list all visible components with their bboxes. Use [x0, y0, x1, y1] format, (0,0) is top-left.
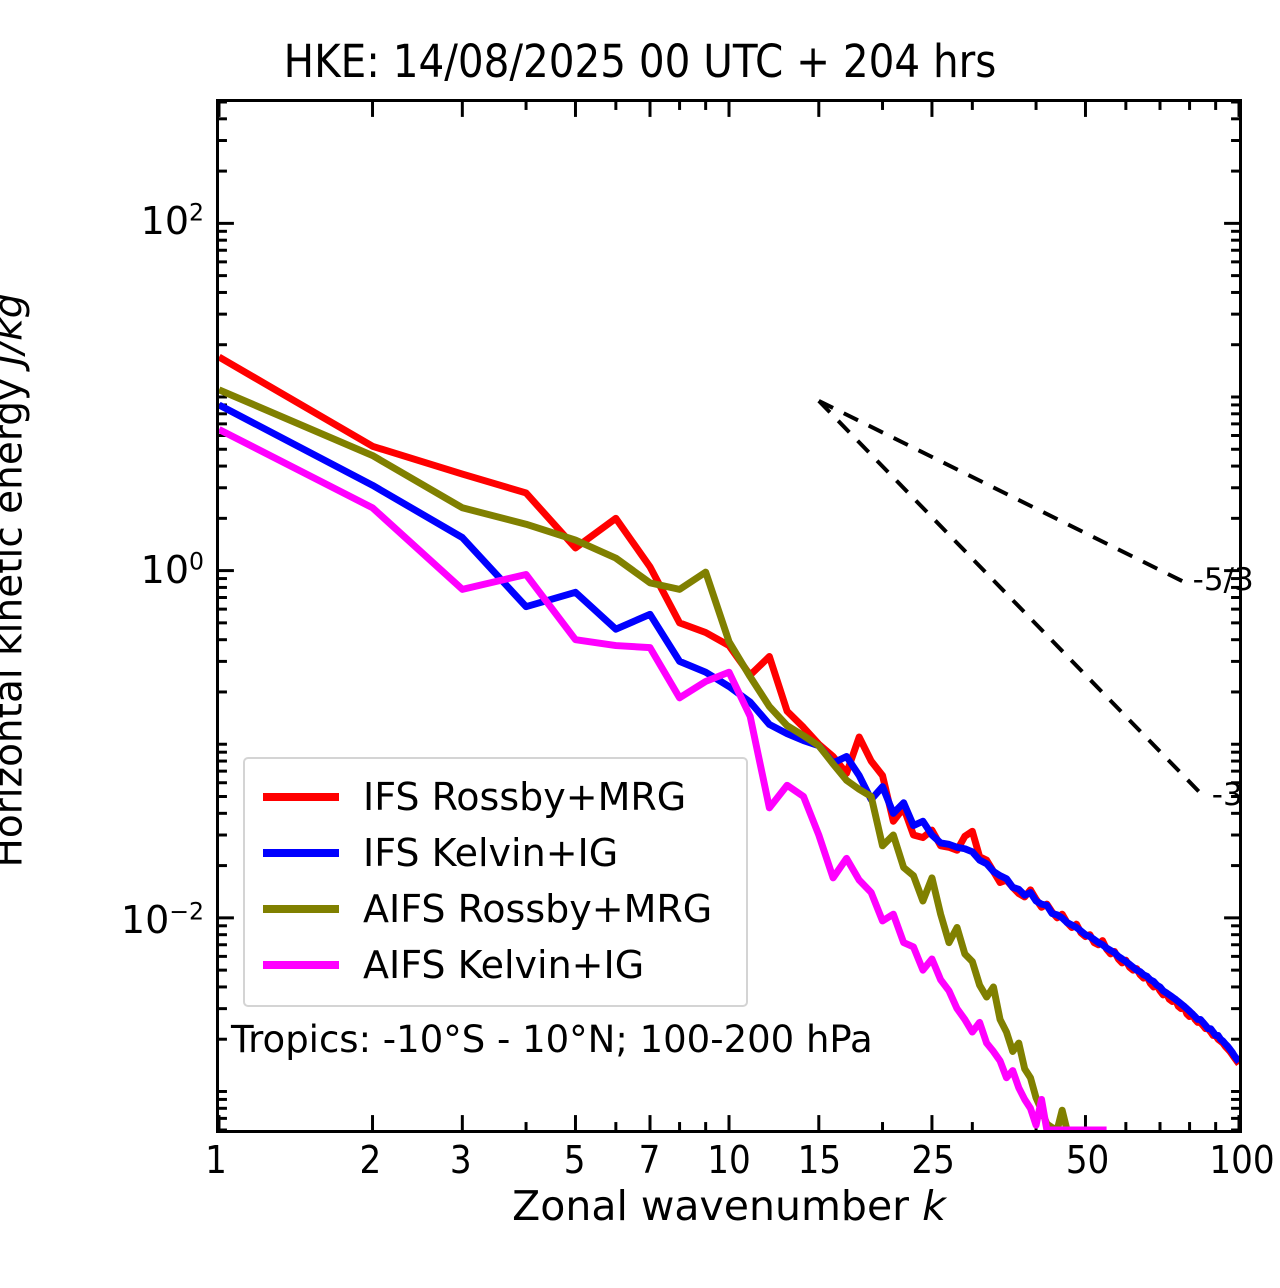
legend: IFS Rossby+MRGIFS Kelvin+IGAIFS Rossby+M…	[243, 757, 748, 1007]
legend-color-swatch	[263, 961, 339, 969]
legend-color-swatch	[263, 905, 339, 913]
x-axis-label: Zonal wavenumber k	[216, 1182, 1242, 1230]
x-tick-label-7: 7	[639, 1139, 661, 1181]
legend-item-label: AIFS Rossby+MRG	[363, 889, 712, 929]
y-tick-label-2: 10−2	[121, 900, 204, 940]
legend-item[interactable]: AIFS Rossby+MRG	[245, 881, 746, 937]
x-tick-label-100: 100	[1209, 1139, 1274, 1181]
x-tick-label-3: 3	[450, 1139, 472, 1181]
legend-item-label: AIFS Kelvin+IG	[363, 945, 644, 985]
x-tick-label-15: 15	[798, 1139, 842, 1181]
slope-line-three	[819, 401, 1203, 796]
legend-color-swatch	[263, 793, 339, 801]
x-axis-label-text: Zonal wavenumber	[512, 1182, 922, 1230]
x-tick-label-2: 2	[360, 1139, 382, 1181]
slope-label-three: -3	[1212, 778, 1243, 812]
legend-item-label: IFS Kelvin+IG	[363, 833, 618, 873]
x-axis-label-symbol: k	[922, 1182, 946, 1230]
y-tick-label-0: 102	[141, 201, 204, 241]
data-series-group	[219, 357, 1239, 1130]
slope-label-five-thirds: -5/3	[1193, 563, 1254, 597]
figure-canvas: HKE: 14/08/2025 00 UTC + 204 hrs 1021001…	[0, 0, 1280, 1288]
x-tick-label-1: 1	[205, 1139, 227, 1181]
slope-line-five-thirds	[819, 401, 1184, 582]
legend-item[interactable]: IFS Rossby+MRG	[245, 769, 746, 825]
x-tick-label-10: 10	[707, 1139, 751, 1181]
legend-color-swatch	[263, 849, 339, 857]
y-axis-label-text: Horizontal kinetic energy	[0, 366, 32, 868]
legend-item[interactable]: IFS Kelvin+IG	[245, 825, 746, 881]
x-tick-label-25: 25	[911, 1139, 955, 1181]
legend-item-label: IFS Rossby+MRG	[363, 777, 686, 817]
x-tick-label-50: 50	[1066, 1139, 1110, 1181]
slope-reference-lines	[819, 401, 1203, 796]
y-axis-label: Horizontal kinetic energy J/kg	[0, 64, 32, 1098]
region-annotation: Tropics: -10°S - 10°N; 100-200 hPa	[231, 1019, 873, 1061]
y-tick-label-1: 100	[141, 550, 204, 590]
y-axis-label-unit: J/kg	[0, 294, 32, 366]
x-tick-label-5: 5	[564, 1139, 586, 1181]
legend-item[interactable]: AIFS Kelvin+IG	[245, 937, 746, 993]
